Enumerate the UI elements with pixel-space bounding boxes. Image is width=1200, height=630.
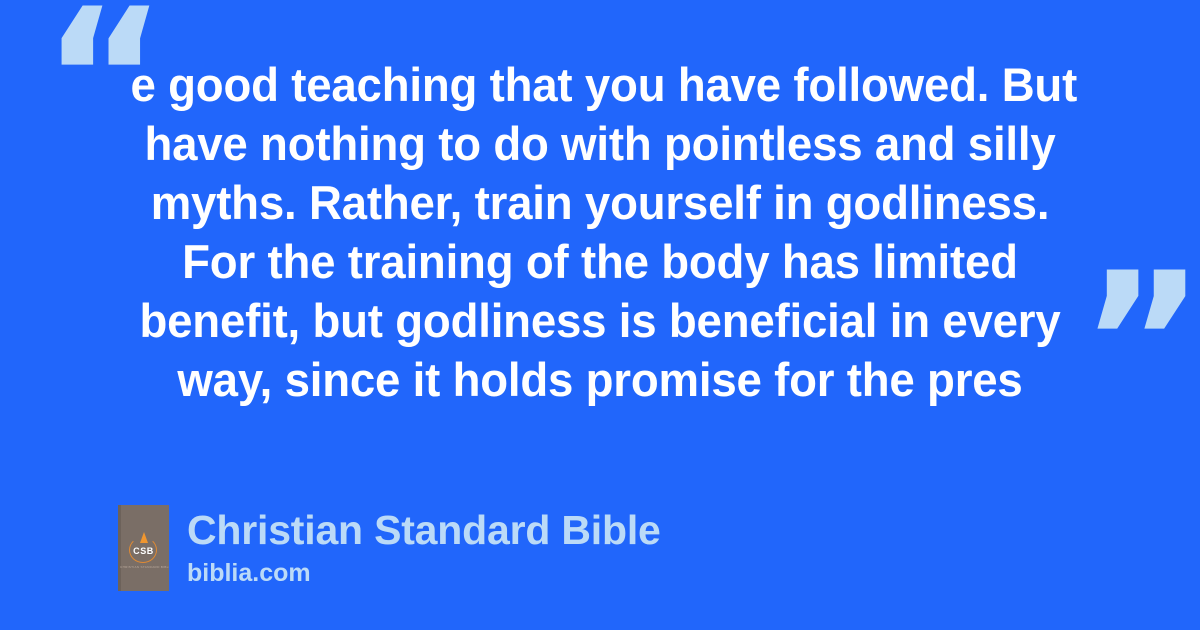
emblem-flame-icon [140,532,148,543]
bible-translation-title: Christian Standard Bible [187,507,661,553]
bible-verse-quote-card: “ ” e good teaching that you have follow… [0,0,1200,630]
quote-line: For the training of the body has limited [125,232,1076,291]
source-website-label[interactable]: biblia.com [187,557,661,589]
quote-line: myths. Rather, train yourself in godline… [125,173,1076,232]
csb-emblem-icon: CSB [127,535,161,565]
book-monogram: CSB [127,546,161,556]
quote-line: way, since it holds promise for the pres [125,350,1076,409]
book-cover-thumbnail: CSB CHRISTIAN STANDARD BIBLE [118,505,169,591]
quote-line: have nothing to do with pointless and si… [125,114,1076,173]
closing-quote-icon: ” [1080,248,1200,438]
quote-text: e good teaching that you have followed. … [125,55,1076,409]
quote-line: benefit, but godliness is beneficial in … [125,291,1076,350]
attribution-text-block: Christian Standard Bible biblia.com [187,505,661,589]
quote-line: e good teaching that you have followed. … [125,55,1076,114]
attribution-footer: CSB CHRISTIAN STANDARD BIBLE Christian S… [118,505,661,591]
book-spine [118,505,121,591]
book-cover-subtitle: CHRISTIAN STANDARD BIBLE [120,565,167,569]
